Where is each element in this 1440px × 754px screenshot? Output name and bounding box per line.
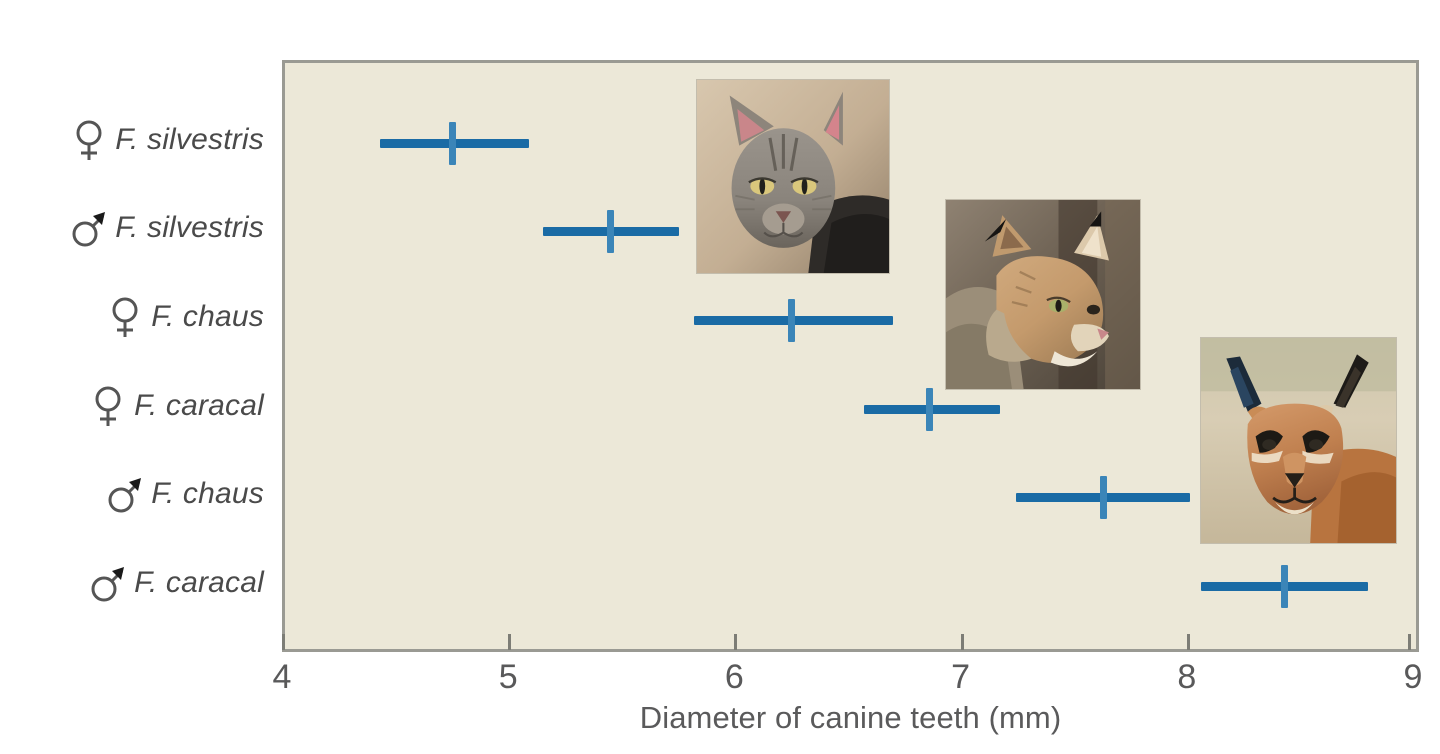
photo-f-chaus xyxy=(946,200,1140,389)
male-symbol-icon xyxy=(88,561,128,605)
species-name: F. chaus xyxy=(151,479,264,509)
species-name: F. chaus xyxy=(151,302,264,332)
species-name: F. caracal xyxy=(134,568,264,598)
category-label-row-5: F. caracal xyxy=(88,558,264,608)
interval-mean-marker xyxy=(1100,476,1107,519)
category-label-row-1: F. silvestris xyxy=(69,203,264,253)
x-tick-label-9: 9 xyxy=(1404,660,1423,694)
species-name: F. caracal xyxy=(134,391,264,421)
x-tick-label-5: 5 xyxy=(499,660,518,694)
x-tick-mark-6 xyxy=(734,634,737,650)
species-name: F. silvestris xyxy=(115,213,264,243)
species-name: F. silvestris xyxy=(115,125,264,155)
male-symbol-icon xyxy=(69,206,109,250)
x-tick-mark-8 xyxy=(1187,634,1190,650)
interval-mean-marker xyxy=(449,122,456,165)
category-label-row-4: F. chaus xyxy=(105,469,264,519)
female-symbol-icon xyxy=(88,384,128,428)
female-symbol-icon xyxy=(105,295,145,339)
interval-mean-marker xyxy=(1281,565,1288,608)
x-tick-mark-4 xyxy=(282,634,285,650)
x-tick-mark-5 xyxy=(508,634,511,650)
x-tick-mark-9 xyxy=(1408,634,1411,650)
photo-f-silvestris xyxy=(697,80,889,273)
x-axis-title: Diameter of canine teeth (mm) xyxy=(282,700,1419,736)
category-label-row-0: F. silvestris xyxy=(69,115,264,165)
photo-f-caracal xyxy=(1201,338,1396,543)
x-tick-label-4: 4 xyxy=(273,660,292,694)
interval-mean-marker xyxy=(788,299,795,342)
interval-mean-marker xyxy=(926,388,933,431)
category-label-row-2: F. chaus xyxy=(105,292,264,342)
plot-area xyxy=(282,60,1419,652)
male-symbol-icon xyxy=(105,472,145,516)
category-label-row-3: F. caracal xyxy=(88,381,264,431)
x-tick-label-7: 7 xyxy=(951,660,970,694)
interval-mean-marker xyxy=(607,210,614,253)
x-tick-label-6: 6 xyxy=(725,660,744,694)
x-tick-label-8: 8 xyxy=(1177,660,1196,694)
x-tick-mark-7 xyxy=(961,634,964,650)
category-axis-labels: F. silvestris F. silvestris F. chaus xyxy=(0,0,282,754)
canine-teeth-diameter-chart: F. silvestris F. silvestris F. chaus xyxy=(0,0,1440,754)
female-symbol-icon xyxy=(69,118,109,162)
